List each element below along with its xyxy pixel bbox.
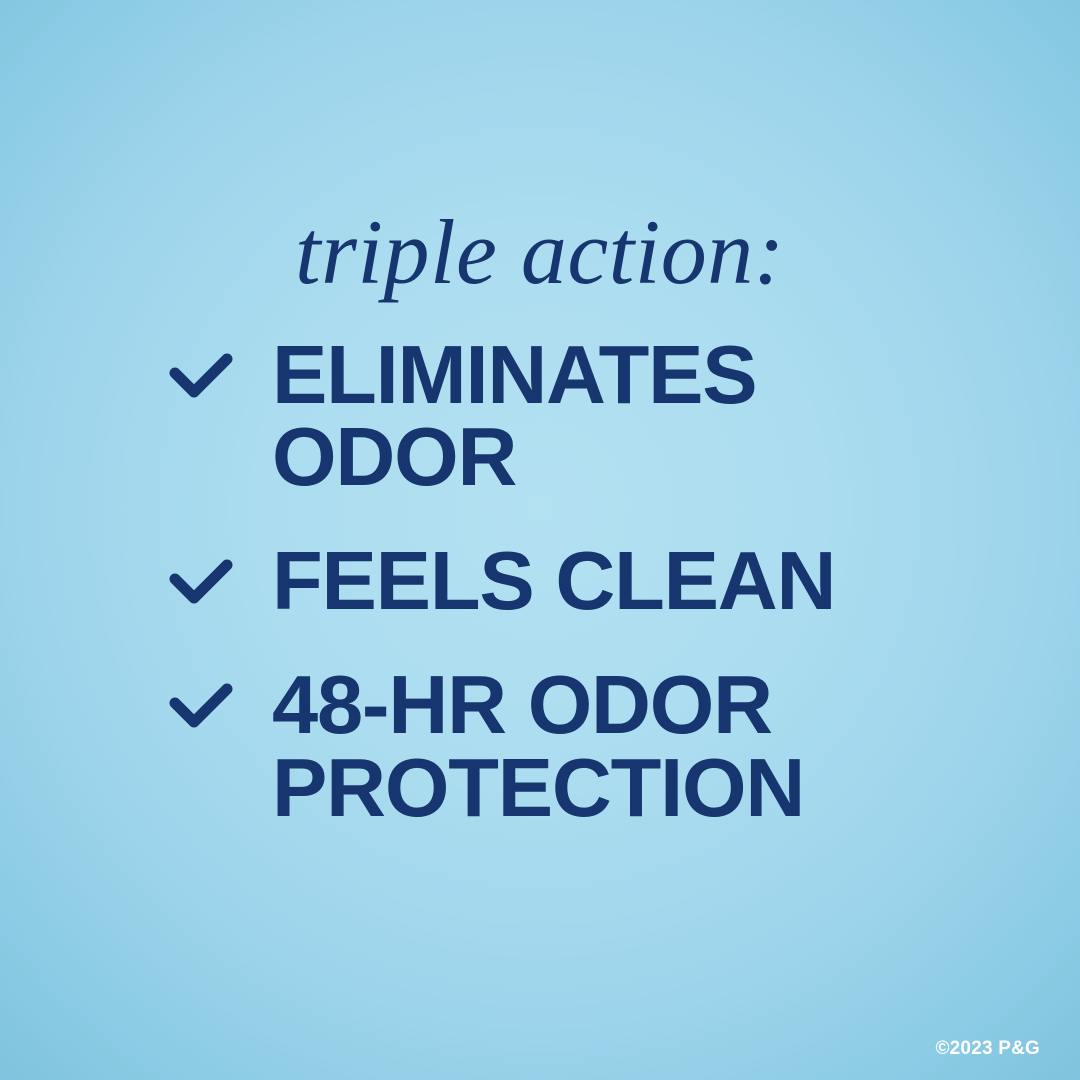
check-icon xyxy=(168,674,234,740)
benefits-list: ELIMINATES ODOR FEELS CLEAN 48-HR ODOR P… xyxy=(168,334,928,829)
list-item: FEELS CLEAN xyxy=(168,540,928,622)
list-item: ELIMINATES ODOR xyxy=(168,334,928,498)
benefit-label: ELIMINATES ODOR xyxy=(272,334,928,498)
ad-canvas: triple action: ELIMINATES ODOR FEELS CLE… xyxy=(0,0,1080,1080)
benefit-label: FEELS CLEAN xyxy=(272,540,928,622)
copyright-notice: ©2023 P&G xyxy=(935,1038,1040,1060)
page-title: triple action: xyxy=(0,206,1080,298)
check-icon xyxy=(168,550,234,616)
benefit-label: 48-HR ODOR PROTECTION xyxy=(272,664,928,828)
list-item: 48-HR ODOR PROTECTION xyxy=(168,664,928,828)
check-icon xyxy=(168,344,234,410)
